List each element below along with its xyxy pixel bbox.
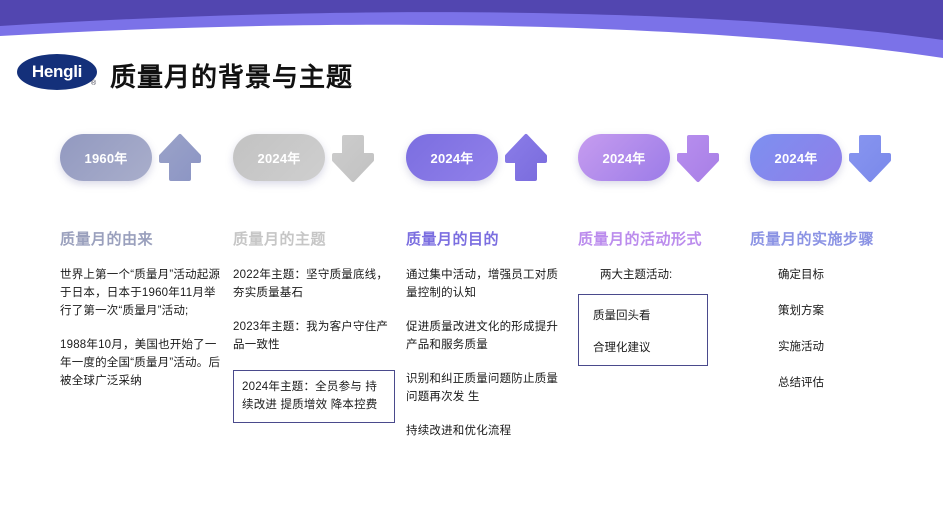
step-item: 实施活动 [778, 338, 912, 356]
paragraph: 通过集中活动，增强员工对质量控制的认知 [406, 266, 568, 302]
step-item: 确定目标 [778, 266, 912, 284]
arrow-down-icon [331, 133, 375, 183]
logo-text: Hengli [32, 62, 82, 82]
year-pill-1960[interactable]: 1960年 [60, 134, 152, 181]
paragraph: 持续改进和优化流程 [406, 422, 568, 440]
activity-item: 合理化建议 [593, 339, 707, 357]
column-body: 世界上第一个“质量月”活动起源于日本，日本于1960年11月举行了第一次“质量月… [60, 266, 222, 390]
column-activity-form: 2024年 质量月的活动形式 两大主题活动: 质量回头看 合理化建议 [570, 128, 745, 190]
year-pill-label: 2024年 [258, 148, 301, 167]
column-body: 确定目标 策划方案 实施活动 总结评估 [750, 266, 912, 392]
activity-box: 质量回头看 合理化建议 [578, 294, 708, 366]
column-origin: 1960年 质量月的由来 世界上第一个“质量月”活动起源于日本，日本于1960年… [52, 128, 227, 190]
year-pill-2024-steps[interactable]: 2024年 [750, 134, 842, 181]
year-pill-label: 1960年 [85, 148, 128, 167]
paragraph: 识别和纠正质量问题防止质量问题再次发 生 [406, 370, 568, 406]
year-pill-2024-theme[interactable]: 2024年 [233, 134, 325, 181]
registered-mark-icon: ® [91, 80, 96, 87]
column-heading-origin: 质量月的由来 [60, 228, 153, 249]
arrow-down-icon [676, 133, 720, 183]
step-item: 策划方案 [778, 302, 912, 320]
column-heading-purpose: 质量月的目的 [406, 228, 499, 249]
badge-row: 1960年 [52, 128, 227, 190]
badge-row: 2024年 [570, 128, 745, 190]
badge-row: 2024年 [398, 128, 573, 190]
column-body: 2022年主题：坚守质量底线，夯实质量基石 2023年主题：我为客户守住产品一致… [233, 266, 395, 423]
column-steps: 2024年 质量月的实施步骤 确定目标 策划方案 实施活动 总结评估 [742, 128, 917, 190]
activity-lead-text: 两大主题活动: [600, 266, 740, 284]
step-item: 总结评估 [778, 374, 912, 392]
highlighted-theme-box: 2024年主题：全员参与 持续改进 提质增效 降本控费 [233, 370, 395, 423]
year-pill-2024-activity[interactable]: 2024年 [578, 134, 670, 181]
content-columns: 1960年 质量月的由来 世界上第一个“质量月”活动起源于日本，日本于1960年… [0, 128, 943, 505]
paragraph: 2022年主题：坚守质量底线，夯实质量基石 [233, 266, 395, 302]
arrow-down-icon [848, 133, 892, 183]
badge-row: 2024年 [742, 128, 917, 190]
column-purpose: 2024年 质量月的目的 通过集中活动，增强员工对质量控制的认知 促进质量改进文… [398, 128, 573, 190]
column-body: 两大主题活动: 质量回头看 合理化建议 [578, 266, 740, 366]
column-body: 通过集中活动，增强员工对质量控制的认知 促进质量改进文化的形成提升产品和服务质量… [406, 266, 568, 440]
column-heading-steps: 质量月的实施步骤 [750, 228, 874, 249]
column-heading-activity: 质量月的活动形式 [578, 228, 702, 249]
paragraph: 促进质量改进文化的形成提升产品和服务质量 [406, 318, 568, 354]
arrow-up-icon [158, 133, 202, 183]
column-theme: 2024年 质量月的主题 2022年主题：坚守质量底线，夯实质量基石 2023年… [225, 128, 400, 190]
hengli-logo: Hengli ® [17, 54, 103, 94]
activity-item: 质量回头看 [593, 307, 707, 325]
logo-ellipse: Hengli [17, 54, 97, 90]
page-title: 质量月的背景与主题 [110, 57, 353, 94]
year-pill-label: 2024年 [431, 148, 474, 167]
year-pill-label: 2024年 [775, 148, 818, 167]
paragraph: 1988年10月，美国也开始了一年一度的全国“质量月”活动。后被全球广泛采纳 [60, 336, 222, 390]
badge-row: 2024年 [225, 128, 400, 190]
year-pill-label: 2024年 [603, 148, 646, 167]
column-heading-theme: 质量月的主题 [233, 228, 326, 249]
year-pill-2024-purpose[interactable]: 2024年 [406, 134, 498, 181]
paragraph: 世界上第一个“质量月”活动起源于日本，日本于1960年11月举行了第一次“质量月… [60, 266, 222, 320]
paragraph: 2023年主题：我为客户守住产品一致性 [233, 318, 395, 354]
arrow-up-icon [504, 133, 548, 183]
